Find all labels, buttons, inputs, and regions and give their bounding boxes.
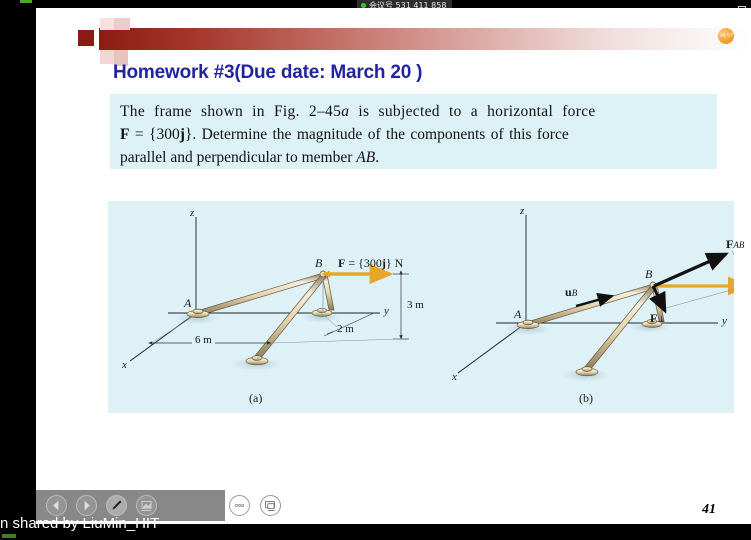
fig-a-joint-a-label: A (184, 296, 191, 311)
fig-a-axis-x-label: x (122, 359, 127, 371)
share-screen-button[interactable] (260, 495, 281, 516)
problem-text-3a: parallel and perpendicular to member (120, 149, 356, 166)
fig-a-force-label: F = {300j} N (338, 256, 403, 271)
problem-text-3b: AB (356, 149, 375, 166)
problem-line-3: parallel and perpendicular to member AB. (120, 146, 707, 169)
fig-a-force-eq: = {300 (345, 256, 382, 270)
fig-b-axis-z-label: z (520, 205, 524, 217)
figure-b (458, 215, 734, 382)
fig-b-caption: (b) (579, 391, 593, 406)
fig-b-fperp-subscript: ⊥ (657, 314, 665, 324)
status-accent-bar (2, 534, 16, 538)
fig-b-ub-base: u (565, 285, 572, 299)
fig-a-axis-y-label: y (384, 305, 389, 317)
fig-a-force-end: } N (386, 256, 403, 270)
presentation-toolbar-right (225, 490, 285, 521)
problem-text-3c: . (375, 149, 379, 166)
fig-b-vector-ub-label: uB (565, 285, 577, 300)
app-root: 会议号 531 411 858 34:57 Homework #3(Due da… (0, 0, 751, 540)
fig-b-axis-x-label: x (452, 371, 457, 383)
fig-b-joint-a-label: A (514, 307, 521, 322)
fig-b-joint-b-label: B (645, 267, 652, 282)
fig-a-caption: (a) (249, 391, 262, 406)
problem-text-1a: The frame shown in Fig. 2–45 (120, 103, 341, 120)
fig-b-vector-fab-label: FAB (726, 237, 744, 252)
banner-square-1 (78, 30, 94, 46)
presentation-slide: 34:57 Homework #3(Due date: March 20 ) T… (36, 8, 751, 524)
banner-square-4 (114, 18, 130, 30)
page-title: Homework #3(Due date: March 20 ) (113, 62, 422, 84)
fig-b-fab-subscript: AB (733, 240, 744, 250)
problem-line-1: The frame shown in Fig. 2–45a is subject… (120, 100, 707, 123)
banner-square-2 (100, 18, 114, 30)
problem-text-2d: }. Determine the magnitude of the compon… (185, 126, 569, 143)
presenter-avatar[interactable]: 34:57 (718, 28, 734, 44)
ellipsis-icon (230, 496, 249, 515)
problem-statement: The frame shown in Fig. 2–45a is subject… (110, 94, 717, 169)
fig-b-vector-fperp-label: F⊥ (650, 311, 665, 326)
fig-a-dim-3m: 3 m (407, 299, 424, 311)
fig-b-ub-subscript: B (572, 288, 578, 298)
more-options-button[interactable] (229, 495, 250, 516)
accent-stripe (20, 0, 32, 3)
shared-by-overlay: n shared by LiuMin_HIT (0, 513, 186, 535)
fig-a-dim-2m: 2 m (337, 323, 354, 335)
banner-square-3 (100, 50, 114, 64)
figure-a (130, 217, 409, 371)
fig-b-axis-y-label: y (722, 315, 727, 327)
slide-banner (99, 28, 751, 50)
slide-page-number: 41 (702, 502, 716, 518)
problem-text-1c: is subjected to a horizontal force (349, 103, 595, 120)
figure-panel: z y x A B F = {300j} N 3 m 2 m 6 m (a) z… (108, 201, 734, 413)
problem-line-2: F = {300j}. Determine the magnitude of t… (120, 123, 707, 146)
problem-text-2b: = {300 (129, 126, 179, 143)
fig-a-axis-z-label: z (190, 207, 194, 219)
screen-share-icon (261, 496, 280, 515)
fig-a-joint-b-label: B (315, 256, 322, 271)
fig-a-dim-6m: 6 m (192, 334, 215, 346)
